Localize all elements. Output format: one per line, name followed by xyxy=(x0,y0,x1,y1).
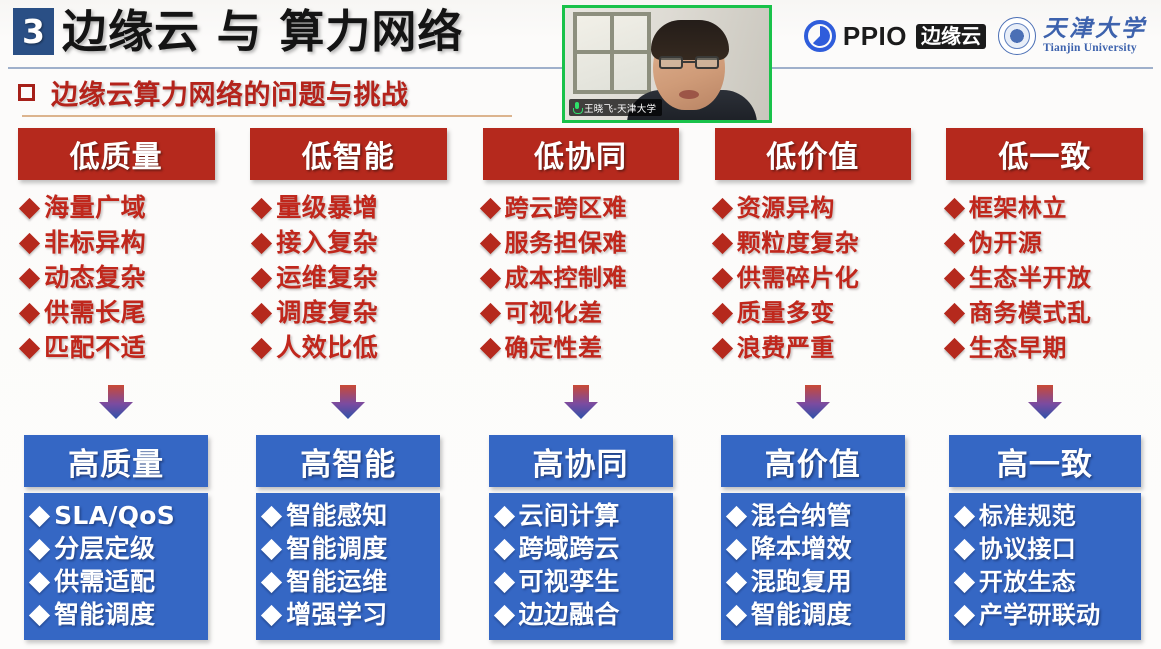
slide-canvas: 3 边缘云 与 算力网络 边缘云算力网络的问题与挑战 PPIO 边缘云 天津大学… xyxy=(0,0,1161,649)
subtitle: 边缘云算力网络的问题与挑战 xyxy=(51,73,409,112)
list-item-label: 边边融合 xyxy=(519,599,620,631)
list-item: 智能调度 xyxy=(264,533,387,565)
problem-title: 低智能 xyxy=(302,132,395,176)
diamond-bullet-icon xyxy=(726,571,747,592)
list-item-label: 智能调度 xyxy=(54,599,155,631)
list-item-label: 生态半开放 xyxy=(969,262,1092,294)
diamond-bullet-icon xyxy=(712,197,733,218)
list-item: 产学研联动 xyxy=(957,599,1101,631)
list-item-label: 浪费严重 xyxy=(737,332,835,364)
list-item: 运维复杂 xyxy=(254,262,378,294)
list-item-label: 质量多变 xyxy=(737,297,835,329)
down-arrow-gradient-icon xyxy=(792,385,834,419)
diamond-bullet-icon xyxy=(479,267,500,288)
list-item: 生态半开放 xyxy=(947,262,1092,294)
diamond-bullet-icon xyxy=(29,505,50,526)
list-item: 云间计算 xyxy=(497,500,620,532)
diamond-bullet-icon xyxy=(251,337,272,358)
list-item-label: 商务模式乱 xyxy=(969,297,1092,329)
list-item: 浪费严重 xyxy=(715,332,835,364)
problem-list: 资源异构 颗粒度复杂 供需碎片化 质量多变 浪费严重 xyxy=(713,192,913,364)
list-item: 供需适配 xyxy=(32,566,155,598)
tju-wordmark: 天津大学 Tianjin University xyxy=(1043,17,1147,55)
solution-list: 智能感知 智能调度 智能运维 增强学习 xyxy=(256,493,440,640)
down-arrow-gradient-icon xyxy=(327,385,369,419)
diamond-bullet-icon xyxy=(493,571,514,592)
problem-header: 低价值 xyxy=(715,128,911,180)
diamond-bullet-icon xyxy=(251,302,272,323)
problem-list: 海量广域 非标异构 动态复杂 供需长尾 匹配不适 xyxy=(16,192,216,364)
list-item-label: 降本增效 xyxy=(751,533,852,565)
problem-list: 量级暴增 接入复杂 运维复杂 调度复杂 人效比低 xyxy=(248,192,448,364)
list-item-label: 增强学习 xyxy=(286,599,387,631)
list-item-label: 跨域跨云 xyxy=(519,533,620,565)
list-item: 可视化差 xyxy=(483,297,603,329)
list-item-label: 开放生态 xyxy=(979,566,1076,598)
diamond-bullet-icon xyxy=(944,232,965,253)
list-item: 智能运维 xyxy=(264,566,387,598)
solution-list: 云间计算 跨域跨云 可视孪生 边边融合 xyxy=(489,493,673,640)
tju-name-en: Tianjin University xyxy=(1043,43,1147,55)
diamond-bullet-icon xyxy=(261,505,282,526)
diamond-bullet-icon xyxy=(944,267,965,288)
list-item-label: 确定性差 xyxy=(505,332,603,364)
diamond-bullet-icon xyxy=(954,571,975,592)
problem-solution-grid: 低质量 海量广域 非标异构 动态复杂 供需长尾 匹配不适 高质量 SLA/QoS… xyxy=(0,128,1161,649)
solution-header: 高质量 xyxy=(24,435,208,487)
list-item-label: 可视化差 xyxy=(505,297,603,329)
list-item-label: 运维复杂 xyxy=(276,262,378,294)
diamond-bullet-icon xyxy=(712,267,733,288)
list-item-label: 人效比低 xyxy=(276,332,378,364)
list-item-label: 框架林立 xyxy=(969,192,1067,224)
list-item: 动态复杂 xyxy=(22,262,146,294)
list-item-label: 混合纳管 xyxy=(751,500,852,532)
list-item-label: 量级暴增 xyxy=(276,192,378,224)
list-item: 生态早期 xyxy=(947,332,1067,364)
list-item: 接入复杂 xyxy=(254,227,378,259)
problem-header: 低协同 xyxy=(483,128,679,180)
diamond-bullet-icon xyxy=(251,197,272,218)
list-item: 混合纳管 xyxy=(729,500,852,532)
video-participant-tile[interactable]: 王晓飞-天津大学 xyxy=(562,5,772,123)
diamond-bullet-icon xyxy=(29,571,50,592)
list-item-label: 颗粒度复杂 xyxy=(737,227,860,259)
list-item: 资源异构 xyxy=(715,192,835,224)
square-outline-icon xyxy=(18,84,35,101)
diamond-bullet-icon xyxy=(493,538,514,559)
list-item-label: 供需适配 xyxy=(54,566,155,598)
list-item-label: 成本控制难 xyxy=(505,262,628,294)
list-item-label: 智能运维 xyxy=(286,566,387,598)
problem-list: 框架林立 伪开源 生态半开放 商务模式乱 生态早期 xyxy=(945,192,1145,364)
diamond-bullet-icon xyxy=(479,197,500,218)
diamond-bullet-icon xyxy=(944,337,965,358)
diamond-bullet-icon xyxy=(479,232,500,253)
diamond-bullet-icon xyxy=(493,505,514,526)
list-item: 成本控制难 xyxy=(483,262,628,294)
video-person-hair xyxy=(651,20,729,60)
list-item: 跨云跨区难 xyxy=(483,192,628,224)
list-item: 可视孪生 xyxy=(497,566,620,598)
column-low-intelligence: 低智能 量级暴增 接入复杂 运维复杂 调度复杂 人效比低 高智能 智能感知 智能… xyxy=(232,128,464,649)
list-item: 质量多变 xyxy=(715,297,835,329)
list-item-label: 产学研联动 xyxy=(979,599,1101,631)
list-item-label: 生态早期 xyxy=(969,332,1067,364)
down-arrow-gradient-icon xyxy=(95,385,137,419)
solution-list: 标准规范 协议接口 开放生态 产学研联动 xyxy=(949,493,1141,640)
diamond-bullet-icon xyxy=(726,505,747,526)
list-item-label: 供需碎片化 xyxy=(737,262,860,294)
list-item-label: 供需长尾 xyxy=(44,297,146,329)
problem-header: 低智能 xyxy=(250,128,447,180)
diamond-bullet-icon xyxy=(29,604,50,625)
diamond-bullet-icon xyxy=(251,232,272,253)
list-item: 开放生态 xyxy=(957,566,1076,598)
participant-name-label: 王晓飞-天津大学 xyxy=(569,99,662,116)
list-item: 非标异构 xyxy=(22,227,146,259)
list-item: 协议接口 xyxy=(957,533,1076,565)
diamond-bullet-icon xyxy=(712,302,733,323)
list-item-label: 伪开源 xyxy=(969,227,1043,259)
list-item: 调度复杂 xyxy=(254,297,378,329)
list-item: 颗粒度复杂 xyxy=(715,227,860,259)
diamond-bullet-icon xyxy=(944,197,965,218)
diamond-bullet-icon xyxy=(726,604,747,625)
list-item: 标准规范 xyxy=(957,500,1076,532)
subtitle-row: 边缘云算力网络的问题与挑战 xyxy=(18,74,409,110)
diamond-bullet-icon xyxy=(954,538,975,559)
list-item-label: 接入复杂 xyxy=(276,227,378,259)
list-item-label: 智能调度 xyxy=(751,599,852,631)
problem-title: 低质量 xyxy=(70,132,163,176)
list-item: 量级暴增 xyxy=(254,192,378,224)
list-item-label: 动态复杂 xyxy=(44,262,146,294)
solution-list: SLA/QoS 分层定级 供需适配 智能调度 xyxy=(24,493,208,640)
diamond-bullet-icon xyxy=(726,538,747,559)
ppio-tagline: 边缘云 xyxy=(916,24,986,49)
list-item-label: 非标异构 xyxy=(44,227,146,259)
video-person-mouth xyxy=(679,90,699,99)
list-item: 智能调度 xyxy=(32,599,155,631)
solution-title: 高协同 xyxy=(533,439,629,484)
list-item-label: 分层定级 xyxy=(54,533,155,565)
diamond-bullet-icon xyxy=(712,337,733,358)
solution-header: 高价值 xyxy=(721,435,905,487)
diamond-bullet-icon xyxy=(954,604,975,625)
diamond-bullet-icon xyxy=(251,267,272,288)
list-item-label: 标准规范 xyxy=(979,500,1076,532)
diamond-bullet-icon xyxy=(954,505,975,526)
diamond-bullet-icon xyxy=(479,302,500,323)
list-item: 供需碎片化 xyxy=(715,262,860,294)
list-item-label: 海量广域 xyxy=(44,192,146,224)
list-item-label: 协议接口 xyxy=(979,533,1076,565)
column-low-collaboration: 低协同 跨云跨区难 服务担保难 成本控制难 可视化差 确定性差 高协同 云间计算… xyxy=(464,128,696,649)
diamond-bullet-icon xyxy=(944,302,965,323)
list-item-label: 智能调度 xyxy=(286,533,387,565)
problem-title: 低协同 xyxy=(534,132,627,176)
list-item: 智能调度 xyxy=(729,599,852,631)
list-item: 混跑复用 xyxy=(729,566,852,598)
list-item: 匹配不适 xyxy=(22,332,146,364)
diamond-bullet-icon xyxy=(19,197,40,218)
tianjin-university-logo: 天津大学 Tianjin University xyxy=(998,17,1147,55)
microphone-icon xyxy=(573,102,581,113)
list-item-label: 服务担保难 xyxy=(505,227,628,259)
diamond-bullet-icon xyxy=(19,337,40,358)
problem-title: 低一致 xyxy=(998,132,1091,176)
solution-title: 高价值 xyxy=(765,439,861,484)
university-seal-icon xyxy=(998,17,1036,55)
list-item: 增强学习 xyxy=(264,599,387,631)
list-item: 商务模式乱 xyxy=(947,297,1092,329)
column-low-value: 低价值 资源异构 颗粒度复杂 供需碎片化 质量多变 浪费严重 高价值 混合纳管 … xyxy=(697,128,929,649)
list-item-label: 匹配不适 xyxy=(44,332,146,364)
list-item: 跨域跨云 xyxy=(497,533,620,565)
diamond-bullet-icon xyxy=(19,302,40,323)
logo-group: PPIO 边缘云 天津大学 Tianjin University xyxy=(804,13,1147,59)
ppio-circle-icon xyxy=(804,20,836,52)
solution-header: 高一致 xyxy=(949,435,1141,487)
diamond-bullet-icon xyxy=(19,232,40,253)
tju-name-cn: 天津大学 xyxy=(1043,17,1147,40)
column-low-consistency: 低一致 框架林立 伪开源 生态半开放 商务模式乱 生态早期 高一致 标准规范 协… xyxy=(929,128,1161,649)
problem-list: 跨云跨区难 服务担保难 成本控制难 可视化差 确定性差 xyxy=(481,192,681,364)
list-item-label: 智能感知 xyxy=(286,500,387,532)
down-arrow-gradient-icon xyxy=(560,385,602,419)
list-item-label: 资源异构 xyxy=(737,192,835,224)
glasses-icon xyxy=(659,56,719,69)
list-item: 分层定级 xyxy=(32,533,155,565)
problem-title: 低价值 xyxy=(766,132,859,176)
list-item-label: 混跑复用 xyxy=(751,566,852,598)
diamond-bullet-icon xyxy=(261,571,282,592)
diamond-bullet-icon xyxy=(479,337,500,358)
list-item: 降本增效 xyxy=(729,533,852,565)
list-item: 智能感知 xyxy=(264,500,387,532)
list-item-label: 调度复杂 xyxy=(276,297,378,329)
solution-title: 高一致 xyxy=(997,439,1093,484)
list-item: 边边融合 xyxy=(497,599,620,631)
down-arrow-gradient-icon xyxy=(1024,385,1066,419)
list-item-label: SLA/QoS xyxy=(54,500,175,532)
ppio-wordmark: PPIO xyxy=(843,21,907,52)
column-low-quality: 低质量 海量广域 非标异构 动态复杂 供需长尾 匹配不适 高质量 SLA/QoS… xyxy=(0,128,232,649)
page-title: 边缘云 与 算力网络 xyxy=(62,2,463,62)
section-number-badge: 3 xyxy=(13,8,54,55)
diamond-bullet-icon xyxy=(29,538,50,559)
participant-name-text: 王晓飞-天津大学 xyxy=(584,101,656,115)
list-item: 人效比低 xyxy=(254,332,378,364)
list-item: 框架林立 xyxy=(947,192,1067,224)
list-item-label: 可视孪生 xyxy=(519,566,620,598)
video-window-frame xyxy=(573,12,651,94)
solution-header: 高智能 xyxy=(256,435,440,487)
solution-header: 高协同 xyxy=(489,435,673,487)
solution-title: 高智能 xyxy=(300,439,396,484)
diamond-bullet-icon xyxy=(261,604,282,625)
solution-list: 混合纳管 降本增效 混跑复用 智能调度 xyxy=(721,493,905,640)
list-item: 确定性差 xyxy=(483,332,603,364)
subtitle-underline xyxy=(22,115,512,117)
list-item: 服务担保难 xyxy=(483,227,628,259)
diamond-bullet-icon xyxy=(712,232,733,253)
problem-header: 低质量 xyxy=(18,128,215,180)
list-item: 海量广域 xyxy=(22,192,146,224)
list-item: 供需长尾 xyxy=(22,297,146,329)
diamond-bullet-icon xyxy=(19,267,40,288)
list-item-label: 跨云跨区难 xyxy=(505,192,628,224)
solution-title: 高质量 xyxy=(68,439,164,484)
ppio-logo: PPIO 边缘云 xyxy=(804,20,986,52)
list-item: 伪开源 xyxy=(947,227,1043,259)
diamond-bullet-icon xyxy=(493,604,514,625)
list-item-label: 云间计算 xyxy=(519,500,620,532)
problem-header: 低一致 xyxy=(946,128,1143,180)
diamond-bullet-icon xyxy=(261,538,282,559)
list-item: SLA/QoS xyxy=(32,500,175,532)
